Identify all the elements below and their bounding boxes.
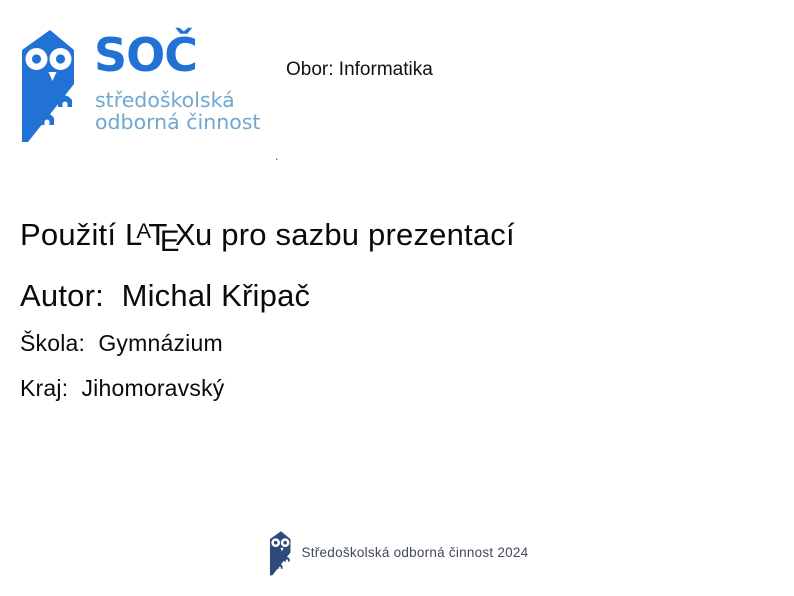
- slide-footer: Středoškolská odborná činnost 2024: [0, 524, 794, 582]
- soc-subtitle-line-2: odborná činnost: [95, 111, 260, 133]
- region-line: Kraj: Jihomoravský: [20, 373, 760, 404]
- author-line: Autor: Michal Křipač: [20, 276, 760, 316]
- soc-owl-icon-small: [266, 531, 296, 576]
- author-value: Michal Křipač: [122, 278, 311, 313]
- soc-wordmark: SOČ středoškolská odborná činnost: [94, 28, 289, 143]
- title-body-block: Použití LATEXu pro sazbu prezentací Auto…: [20, 215, 760, 404]
- soc-owl-icon: [12, 30, 88, 143]
- title-prefix: Použití: [20, 217, 125, 252]
- school-label: Škola:: [20, 330, 85, 356]
- region-value: Jihomoravský: [81, 375, 224, 401]
- soc-wordmark-letters: SOČ: [94, 32, 197, 78]
- field-of-study-label: Obor: Informatika: [286, 59, 433, 81]
- stray-period-mark: .: [275, 150, 278, 162]
- latex-e: E: [160, 225, 179, 258]
- latex-logo: LATEX: [125, 217, 195, 252]
- soc-subtitle-line-1: středoškolská: [95, 89, 235, 111]
- latex-a: A: [137, 218, 151, 243]
- footer-text: Středoškolská odborná činnost 2024: [302, 545, 529, 561]
- presentation-title: Použití LATEXu pro sazbu prezentací: [20, 215, 760, 258]
- author-label: Autor:: [20, 278, 104, 313]
- school-value: Gymnázium: [98, 330, 223, 356]
- region-label: Kraj:: [20, 375, 68, 401]
- soc-logo-block: SOČ středoškolská odborná činnost: [12, 28, 287, 143]
- school-line: Škola: Gymnázium: [20, 328, 760, 359]
- presentation-title-slide: SOČ středoškolská odborná činnost Obor: …: [0, 0, 794, 596]
- title-suffix: u pro sazbu prezentací: [195, 217, 515, 252]
